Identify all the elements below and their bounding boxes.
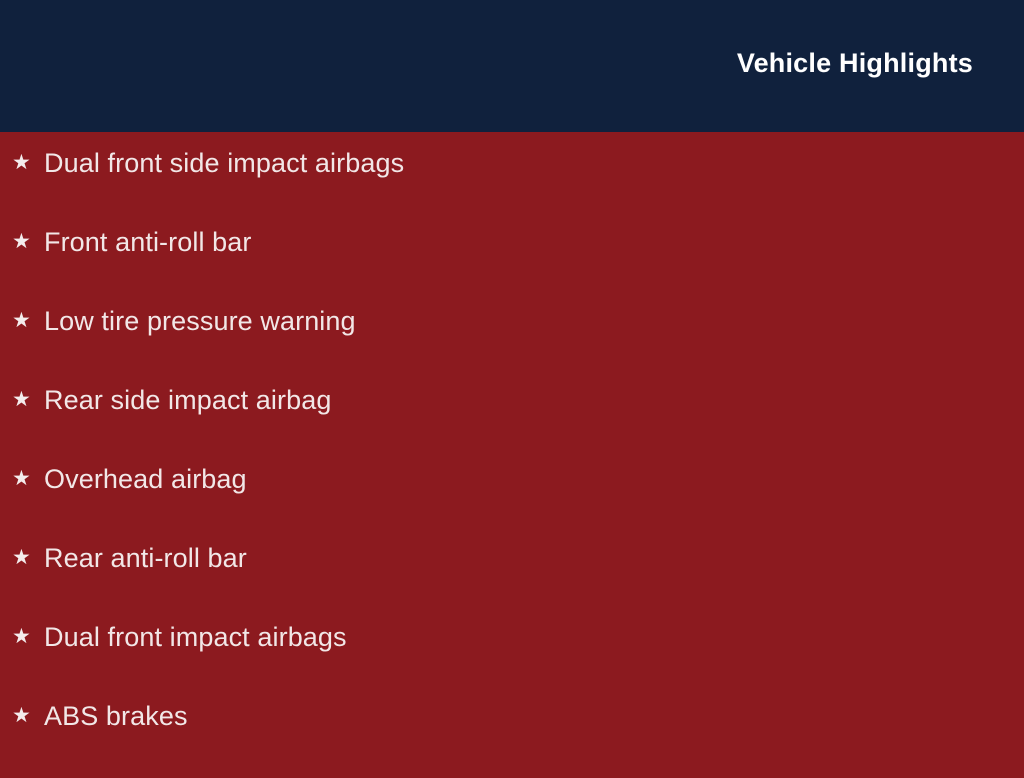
slide-header-bar: Vehicle Highlights <box>0 0 1024 132</box>
star-bullet-icon: ★ <box>12 146 44 180</box>
slide-content: ★ Dual front side impact airbags ★ Front… <box>0 132 1024 768</box>
list-item-label: Rear side impact airbag <box>44 383 331 417</box>
star-bullet-icon: ★ <box>12 620 44 654</box>
list-item: ★ ABS brakes <box>0 699 1024 778</box>
page-title: Vehicle Highlights <box>737 46 973 80</box>
list-item: ★ Rear anti-roll bar <box>0 541 1024 620</box>
list-item: ★ Low tire pressure warning <box>0 304 1024 383</box>
list-item-label: Rear anti-roll bar <box>44 541 247 575</box>
slide-canvas: Vehicle Highlights ★ Dual front side imp… <box>0 0 1024 768</box>
list-item: ★ Rear side impact airbag <box>0 383 1024 462</box>
list-item-label: Dual front side impact airbags <box>44 146 404 180</box>
list-item: ★ Overhead airbag <box>0 462 1024 541</box>
list-item-label: Overhead airbag <box>44 462 247 496</box>
star-bullet-icon: ★ <box>12 541 44 575</box>
list-item: ★ Dual front impact airbags <box>0 620 1024 699</box>
list-item-label: ABS brakes <box>44 699 188 733</box>
list-item: ★ Front anti-roll bar <box>0 225 1024 304</box>
star-bullet-icon: ★ <box>12 225 44 259</box>
list-item-label: Dual front impact airbags <box>44 620 347 654</box>
star-bullet-icon: ★ <box>12 699 44 733</box>
vehicle-highlights-list: ★ Dual front side impact airbags ★ Front… <box>0 146 1024 778</box>
star-bullet-icon: ★ <box>12 462 44 496</box>
list-item: ★ Dual front side impact airbags <box>0 146 1024 225</box>
star-bullet-icon: ★ <box>12 304 44 338</box>
list-item-label: Low tire pressure warning <box>44 304 356 338</box>
star-bullet-icon: ★ <box>12 383 44 417</box>
list-item-label: Front anti-roll bar <box>44 225 251 259</box>
